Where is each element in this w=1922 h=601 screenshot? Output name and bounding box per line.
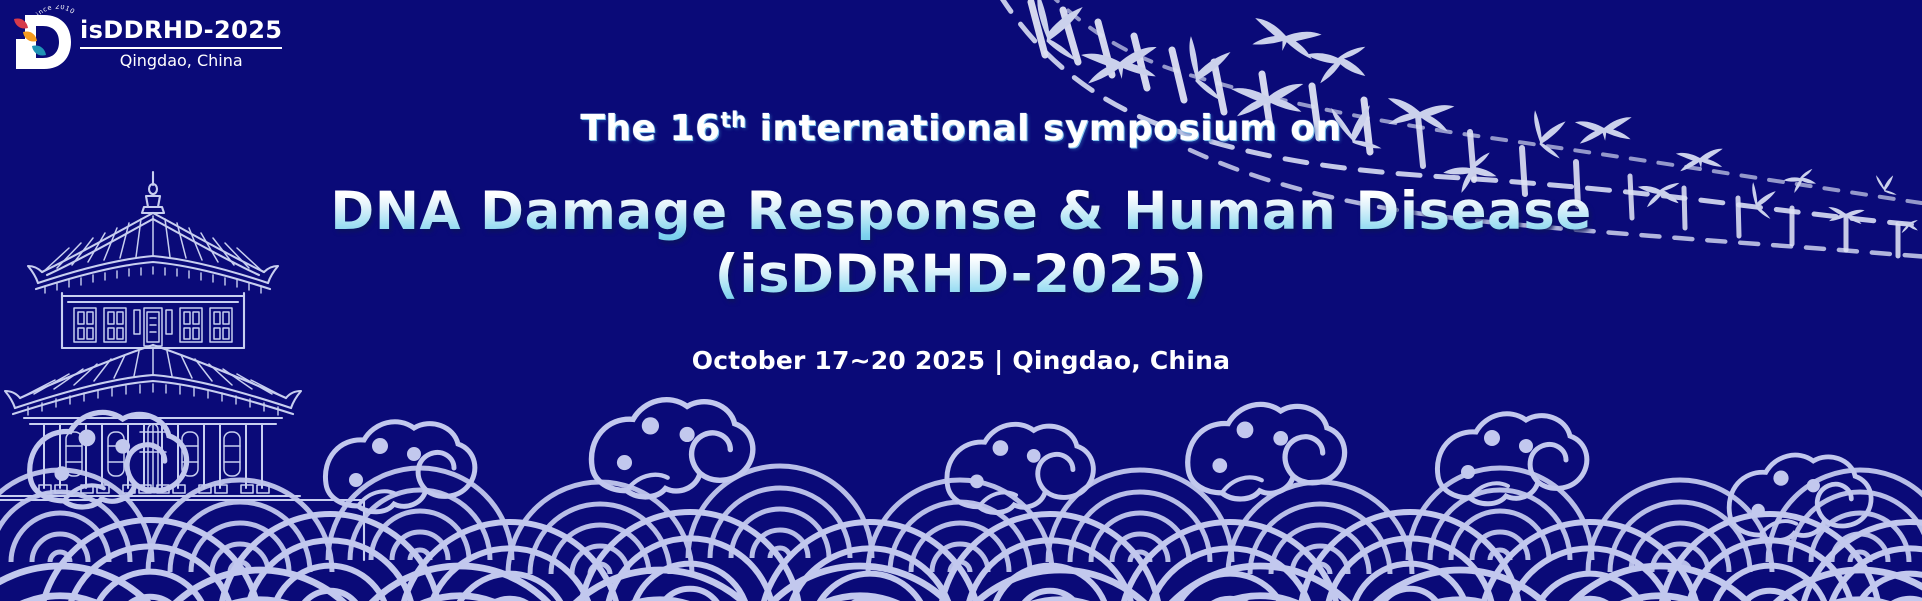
headline-prefix-before: The 16 <box>580 108 720 149</box>
date-and-location: October 17~20 2025 | Qingdao, China <box>0 346 1922 375</box>
headline-prefix: The 16th international symposium on <box>0 108 1922 149</box>
headline-prefix-after: international symposium on <box>747 108 1342 149</box>
headline-ordinal-suffix: th <box>721 108 747 132</box>
conference-logo[interactable]: since 2010 isDDRHD‑2025 Qingdao, China <box>8 2 283 80</box>
logo-subtitle: Qingdao, China <box>80 51 282 70</box>
headline-group: The 16th international symposium on DNA … <box>0 108 1922 375</box>
logo-text-group: isDDRHD‑2025 Qingdao, China <box>80 12 282 70</box>
headline-line-2: (isDDRHD-2025) <box>0 244 1922 305</box>
logo-mark: since 2010 <box>8 5 76 77</box>
logo-title: isDDRHD‑2025 <box>80 16 282 44</box>
headline-line-1: DNA Damage Response & Human Disease <box>0 181 1922 242</box>
logo-divider <box>80 47 282 49</box>
conference-banner: since 2010 isDDRHD‑2025 Qingdao, China T… <box>0 0 1922 601</box>
